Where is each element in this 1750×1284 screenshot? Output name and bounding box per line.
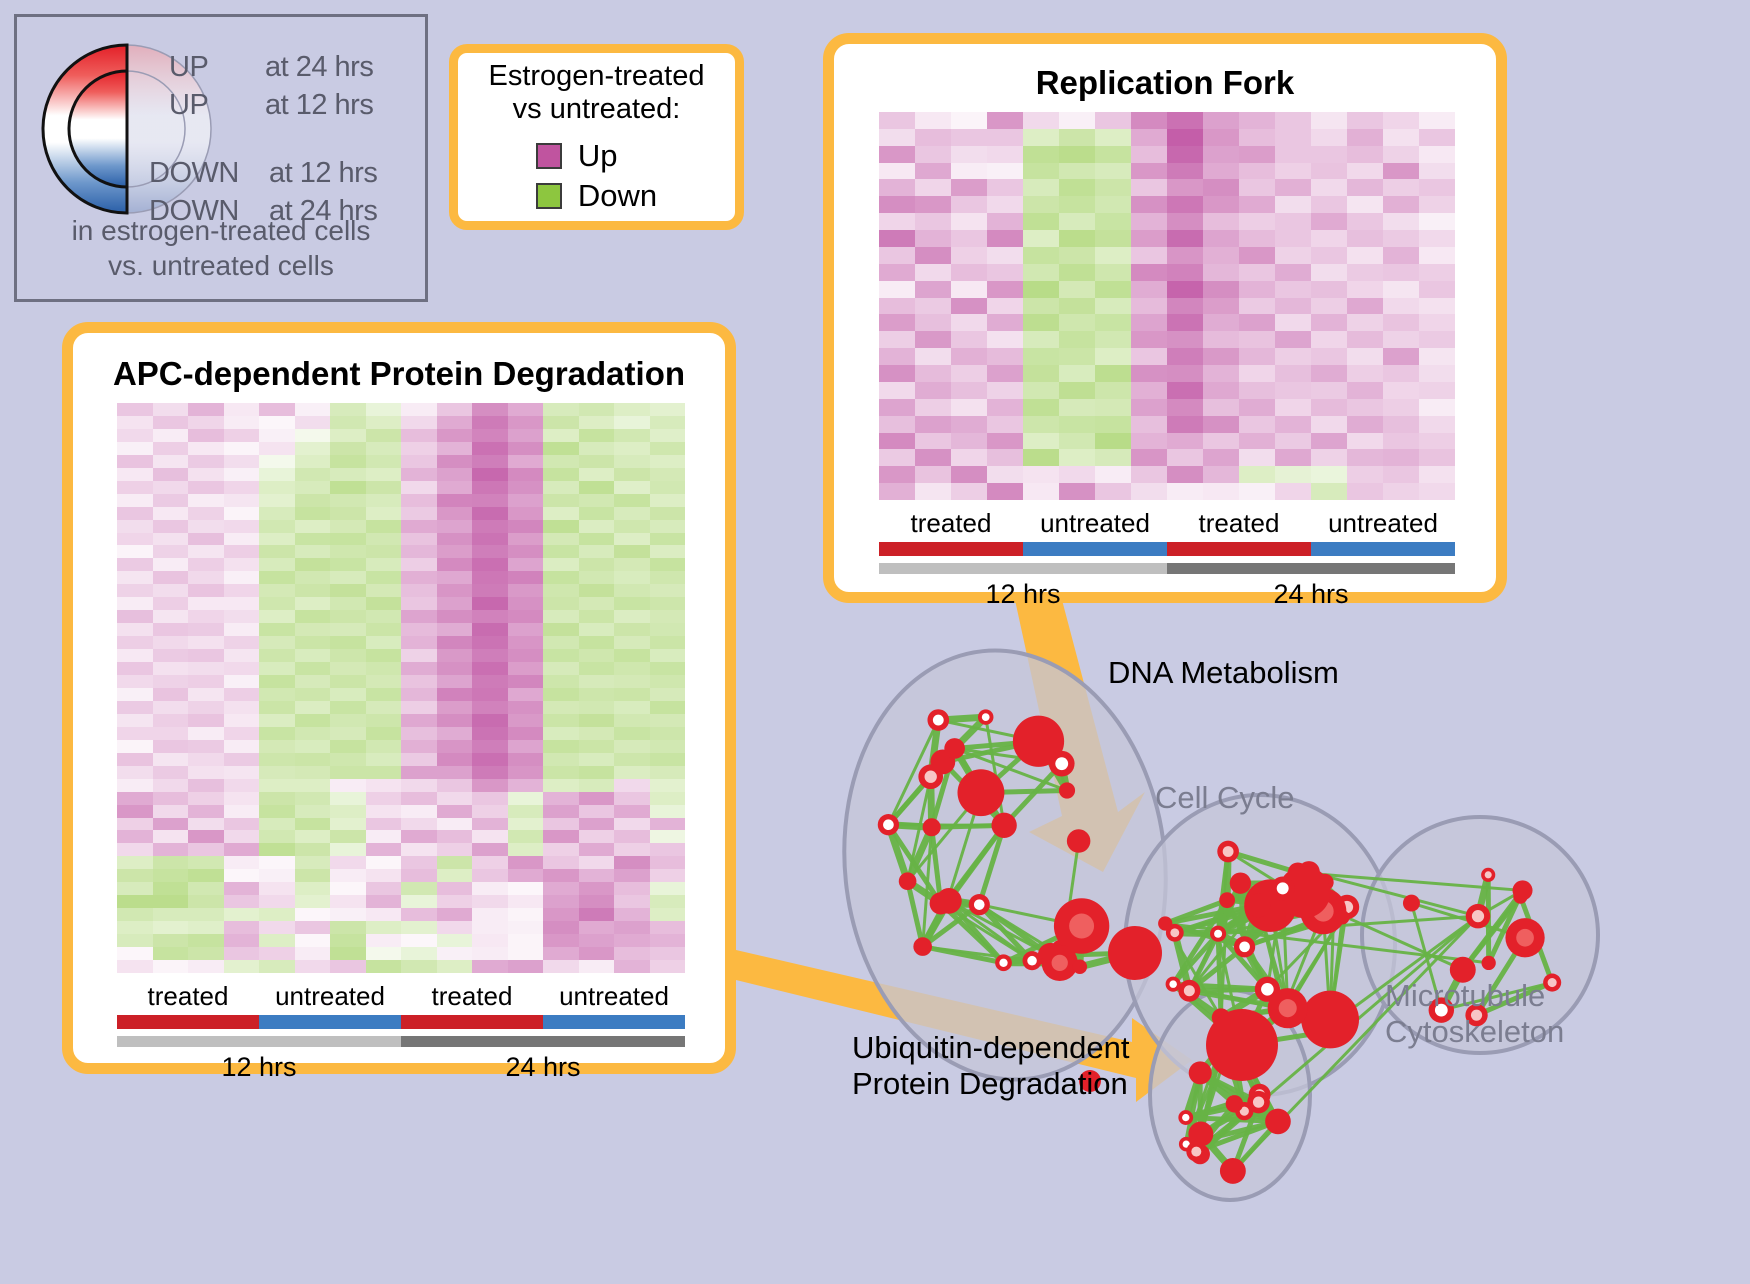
heatmap-cell xyxy=(366,597,402,610)
heatmap-cell xyxy=(401,584,437,597)
heatmap-cell xyxy=(224,934,260,947)
network-node-core xyxy=(1239,942,1250,953)
heatmap-cell xyxy=(879,382,915,399)
heatmap-cell xyxy=(543,520,579,533)
heatmap-cell xyxy=(1203,281,1239,298)
heatmap-cell xyxy=(259,416,295,429)
heatmap-cell xyxy=(295,714,331,727)
heatmap-cell xyxy=(614,921,650,934)
heatmap-cell xyxy=(295,805,331,818)
heatmap-cell xyxy=(650,545,686,558)
heatmap-cell xyxy=(153,494,189,507)
heatmap-cell xyxy=(401,494,437,507)
heatmap-cell xyxy=(117,403,153,416)
heatmap-cell xyxy=(330,779,366,792)
heatmap-cell xyxy=(579,934,615,947)
heatmap-cell xyxy=(650,403,686,416)
heatmap-cell xyxy=(117,442,153,455)
heatmap-cell xyxy=(579,960,615,973)
treatment-bar-apc-0 xyxy=(117,1015,259,1029)
heatmap-cell xyxy=(472,649,508,662)
network-node-core xyxy=(1052,955,1068,971)
panel-apc-degradation: APC-dependent Protein Degradation treate… xyxy=(62,322,736,1074)
heatmap-cell xyxy=(543,403,579,416)
heatmap-cell xyxy=(437,779,473,792)
heatmap-cell xyxy=(153,766,189,779)
heatmap-cell xyxy=(579,753,615,766)
heatmap-cell xyxy=(1059,247,1095,264)
heatmap-cell xyxy=(951,230,987,247)
heatmap-cell xyxy=(879,281,915,298)
network-node xyxy=(1219,892,1235,908)
heatmap-cell xyxy=(987,399,1023,416)
heatmap-cell xyxy=(224,610,260,623)
heatmap-cell xyxy=(1203,466,1239,483)
heatmap-cell xyxy=(1167,365,1203,382)
heatmap-cell xyxy=(401,571,437,584)
heatmap-cell xyxy=(1203,348,1239,365)
heatmap-cell xyxy=(366,468,402,481)
heatmap-cell xyxy=(401,468,437,481)
heatmap-cell xyxy=(472,662,508,675)
heatmap-cell xyxy=(614,429,650,442)
heatmap-cell xyxy=(614,843,650,856)
heatmap-cell xyxy=(153,934,189,947)
heatmap-cell xyxy=(579,805,615,818)
heatmap-cell xyxy=(330,714,366,727)
heatmap-cell xyxy=(508,429,544,442)
heatmap-cell xyxy=(1419,281,1455,298)
heatmap-cell xyxy=(153,429,189,442)
heatmap-cell xyxy=(1383,331,1419,348)
heatmap-cell xyxy=(437,571,473,584)
heatmap-cell xyxy=(915,416,951,433)
heatmap-cell xyxy=(650,520,686,533)
heatmap-cell xyxy=(508,753,544,766)
heatmap-cell xyxy=(1023,230,1059,247)
heatmap-cell xyxy=(1023,264,1059,281)
heatmap-cell xyxy=(543,494,579,507)
heatmap-cell xyxy=(437,558,473,571)
legend-item-down: Down xyxy=(536,178,657,214)
heatmap-cell xyxy=(951,129,987,146)
heatmap-cell xyxy=(1023,281,1059,298)
heatmap-cell xyxy=(330,520,366,533)
heatmap-cell xyxy=(117,558,153,571)
network-node xyxy=(1226,1095,1243,1112)
heatmap-cell xyxy=(508,701,544,714)
heatmap-cell xyxy=(508,934,544,947)
heatmap-cell xyxy=(650,468,686,481)
heatmap-cell xyxy=(650,429,686,442)
heatmap-cell xyxy=(1023,129,1059,146)
heatmap-cell xyxy=(437,649,473,662)
heatmap-cell xyxy=(1023,399,1059,416)
heatmap-cell xyxy=(1203,483,1239,500)
heatmap-cell xyxy=(579,558,615,571)
heatmap-cell xyxy=(437,468,473,481)
heatmap-cell xyxy=(330,533,366,546)
heatmap-cell xyxy=(1203,416,1239,433)
heatmap-cell xyxy=(472,429,508,442)
heatmap-cell xyxy=(472,818,508,831)
heatmap-cell xyxy=(117,494,153,507)
time-labels-rf: 12 hrs 24 hrs xyxy=(879,579,1455,610)
heatmap-cell xyxy=(295,792,331,805)
heatmap-cell xyxy=(472,895,508,908)
heatmap-cell xyxy=(1275,365,1311,382)
treatment-label-rf-3: untreated xyxy=(1311,508,1455,539)
treatment-label-rf-0: treated xyxy=(879,508,1023,539)
network-node xyxy=(1189,1061,1212,1084)
heatmap-cell xyxy=(1311,196,1347,213)
heatmap-cell xyxy=(1167,466,1203,483)
heatmap-cell xyxy=(1347,399,1383,416)
heatmap-cell xyxy=(1239,399,1275,416)
heatmap-cell xyxy=(915,196,951,213)
treatment-bars-apc xyxy=(117,1015,685,1029)
network-node-core xyxy=(1261,983,1274,996)
heatmap-cell xyxy=(650,481,686,494)
heatmap-cell xyxy=(295,481,331,494)
heatmap-cell xyxy=(1167,230,1203,247)
heatmap-cell xyxy=(117,766,153,779)
treatment-bar-rf-3 xyxy=(1311,542,1455,556)
heatmap-cell xyxy=(117,830,153,843)
heatmap-cell xyxy=(117,818,153,831)
heatmap-cell xyxy=(1383,163,1419,180)
heatmap-cell xyxy=(1059,129,1095,146)
heatmap-cell xyxy=(330,908,366,921)
heatmap-cell xyxy=(508,533,544,546)
heatmap-cell xyxy=(650,688,686,701)
heatmap-cell xyxy=(543,701,579,714)
heatmap-cell xyxy=(508,649,544,662)
network-node xyxy=(913,937,932,956)
heatmap-cell xyxy=(1347,112,1383,129)
heatmap-cell xyxy=(188,766,224,779)
heatmap-cell xyxy=(579,727,615,740)
network-node-core xyxy=(933,715,944,726)
heatmap-cell xyxy=(1311,264,1347,281)
heatmap-cell xyxy=(472,623,508,636)
heatmap-cell xyxy=(330,740,366,753)
heatmap-cell xyxy=(1383,196,1419,213)
heatmap-cell xyxy=(879,365,915,382)
network-svg xyxy=(790,615,1750,1279)
heatmap-cell xyxy=(1095,382,1131,399)
heatmap-cell xyxy=(295,830,331,843)
heatmap-cell xyxy=(1059,213,1095,230)
heatmap-cell xyxy=(614,558,650,571)
heatmap-cell xyxy=(153,792,189,805)
heatmap-cell xyxy=(915,382,951,399)
heatmap-cell xyxy=(1239,281,1275,298)
heatmap-cell xyxy=(472,908,508,921)
heatmap-cell xyxy=(1419,264,1455,281)
heatmap-cell xyxy=(543,727,579,740)
time-label-rf-12: 12 hrs xyxy=(879,579,1167,610)
network-node-core xyxy=(1027,956,1037,966)
heatmap-cell xyxy=(117,882,153,895)
heatmap-cell xyxy=(614,545,650,558)
heatmap-cell xyxy=(330,882,366,895)
heatmap-cell xyxy=(1311,146,1347,163)
heatmap-cell xyxy=(614,597,650,610)
heatmap-cell xyxy=(401,843,437,856)
heatmap-cell xyxy=(1167,213,1203,230)
heatmap-cell xyxy=(543,818,579,831)
heatmap-cell xyxy=(259,792,295,805)
heatmap-cell xyxy=(1275,163,1311,180)
heatmap-cell xyxy=(650,753,686,766)
heatmap-cell xyxy=(614,727,650,740)
heatmap-cell xyxy=(1239,483,1275,500)
heatmap-cell xyxy=(153,455,189,468)
heatmap-cell xyxy=(437,429,473,442)
heatmap-cell xyxy=(508,921,544,934)
heatmap-cell xyxy=(951,281,987,298)
heatmap-cell xyxy=(153,545,189,558)
heatmap-cell xyxy=(579,947,615,960)
heatmap-cell xyxy=(543,623,579,636)
heatmap-cell xyxy=(437,727,473,740)
heatmap-cell xyxy=(614,947,650,960)
heatmap-cell xyxy=(153,662,189,675)
heatmap-cell xyxy=(188,895,224,908)
heatmap-cell xyxy=(259,636,295,649)
heatmap-cell xyxy=(295,429,331,442)
heatmap-cell xyxy=(224,662,260,675)
heatmap-cell xyxy=(1023,433,1059,450)
heatmap-cell xyxy=(543,688,579,701)
heatmap-cell xyxy=(401,649,437,662)
heatmap-cell xyxy=(437,520,473,533)
heatmap-cell xyxy=(1347,365,1383,382)
heatmap-cell xyxy=(401,416,437,429)
heatmap-cell xyxy=(117,416,153,429)
heatmap-cell xyxy=(879,483,915,500)
heatmap-cell xyxy=(472,882,508,895)
heatmap-cell xyxy=(508,507,544,520)
heatmap-cell xyxy=(224,545,260,558)
heatmap-cell xyxy=(1419,416,1455,433)
treatment-label-apc-1: untreated xyxy=(259,981,401,1012)
heatmap-cell xyxy=(437,714,473,727)
heatmap-cell xyxy=(1275,382,1311,399)
heatmap-cell xyxy=(1347,483,1383,500)
heatmap-cell xyxy=(1203,331,1239,348)
heatmap-cell xyxy=(117,714,153,727)
heatmap-cell xyxy=(472,507,508,520)
heatmap-cell xyxy=(1311,416,1347,433)
heatmap-cell xyxy=(366,947,402,960)
heatmap-cell xyxy=(224,701,260,714)
heatmap-cell xyxy=(650,856,686,869)
heatmap-cell xyxy=(1059,416,1095,433)
heatmap-cell xyxy=(1239,466,1275,483)
heatmap-cell xyxy=(1275,281,1311,298)
heatmap-cell xyxy=(472,766,508,779)
heatmap-cell xyxy=(543,468,579,481)
heatmap-cell xyxy=(508,830,544,843)
heatmap-cell xyxy=(951,146,987,163)
heatmap-cell xyxy=(1347,264,1383,281)
heatmap-cell xyxy=(224,779,260,792)
heatmap-cell xyxy=(366,662,402,675)
heatmap-cell xyxy=(650,533,686,546)
heatmap-cell xyxy=(153,636,189,649)
heatmap-cell xyxy=(330,843,366,856)
heatmap-cell xyxy=(366,960,402,973)
network-node-core xyxy=(1485,871,1492,878)
heatmap-cell xyxy=(1023,314,1059,331)
heatmap-cell xyxy=(401,779,437,792)
heatmap-cell xyxy=(1383,466,1419,483)
heatmap-cell xyxy=(614,805,650,818)
heatmap-cell xyxy=(1383,433,1419,450)
heatmap-cell xyxy=(1059,483,1095,500)
heatmap-cell xyxy=(366,688,402,701)
heatmap-cell xyxy=(579,869,615,882)
heatmap-cell xyxy=(188,779,224,792)
heatmap-cell xyxy=(543,934,579,947)
heatmap-cell xyxy=(1023,298,1059,315)
heatmap-cell xyxy=(366,675,402,688)
heatmap-cell xyxy=(224,636,260,649)
heatmap-cell xyxy=(579,403,615,416)
heatmap-cell xyxy=(1059,112,1095,129)
heatmap-cell xyxy=(543,947,579,960)
heatmap-cell xyxy=(579,714,615,727)
heatmap-cell xyxy=(579,416,615,429)
heatmap-cell xyxy=(330,830,366,843)
heatmap-cell xyxy=(1311,348,1347,365)
heatmap-cell xyxy=(1203,382,1239,399)
heatmap-cell xyxy=(1059,196,1095,213)
heatmap-cell xyxy=(366,571,402,584)
heatmap-cell xyxy=(1347,247,1383,264)
heatmap-cell xyxy=(259,714,295,727)
heatmap-cell xyxy=(543,753,579,766)
heatmap-cell xyxy=(543,895,579,908)
network-node xyxy=(1301,991,1359,1049)
heatmap-cell xyxy=(117,921,153,934)
legend-title-line2: vs untreated: xyxy=(488,93,704,126)
heatmap-cell xyxy=(472,856,508,869)
heatmap-cell xyxy=(579,675,615,688)
treatment-labels-rf: treated untreated treated untreated xyxy=(879,508,1455,539)
heatmap-cell xyxy=(543,597,579,610)
heatmap-cell xyxy=(879,179,915,196)
heatmap-cell xyxy=(259,662,295,675)
heatmap-cell xyxy=(472,921,508,934)
heatmap-cell xyxy=(472,636,508,649)
heatmap-cell xyxy=(259,921,295,934)
heatmap-cell xyxy=(579,779,615,792)
heatmap-cell xyxy=(188,610,224,623)
heatmap-cell xyxy=(915,179,951,196)
heatmap-cell xyxy=(330,545,366,558)
heatmap-cell xyxy=(1347,281,1383,298)
heatmap-cell xyxy=(472,675,508,688)
heatmap-cell xyxy=(543,416,579,429)
axis-apc: treated untreated treated untreated 12 h… xyxy=(117,981,685,1083)
heatmap-cell xyxy=(117,533,153,546)
heatmap-cell xyxy=(330,442,366,455)
heatmap-cell xyxy=(366,830,402,843)
heatmap-cell xyxy=(614,636,650,649)
heatmap-cell xyxy=(330,610,366,623)
network-node xyxy=(1220,1158,1246,1184)
heatmap-cell xyxy=(330,403,366,416)
heatmap-cell xyxy=(650,442,686,455)
treatment-label-rf-2: treated xyxy=(1167,508,1311,539)
heatmap-cell xyxy=(1383,449,1419,466)
heatmap-cell xyxy=(614,520,650,533)
heatmap-cell xyxy=(1311,112,1347,129)
heatmap-cell xyxy=(650,779,686,792)
heatmap-cell xyxy=(117,545,153,558)
heatmap-cell xyxy=(1167,483,1203,500)
heatmap-cell xyxy=(259,779,295,792)
heatmap-cell xyxy=(401,960,437,973)
heatmap-cell xyxy=(1419,449,1455,466)
heatmap-cell xyxy=(879,314,915,331)
heatmap-cell xyxy=(1203,247,1239,264)
heatmap-cell xyxy=(1275,129,1311,146)
heatmap-cell xyxy=(543,662,579,675)
heatmap-cell xyxy=(951,416,987,433)
heatmap-cell xyxy=(330,597,366,610)
heatmap-cell xyxy=(543,675,579,688)
heatmap-cell xyxy=(401,921,437,934)
heatmap-cell xyxy=(117,753,153,766)
heatmap-cell xyxy=(1419,213,1455,230)
heatmap-cell xyxy=(879,449,915,466)
heatmap-cell xyxy=(650,494,686,507)
heatmap-cell xyxy=(153,830,189,843)
heatmap-cell xyxy=(401,455,437,468)
heatmap-cell xyxy=(224,468,260,481)
heatmap-cell xyxy=(295,856,331,869)
heatmap-cell xyxy=(650,714,686,727)
heatmap-cell xyxy=(1167,247,1203,264)
network-node-core xyxy=(1184,985,1195,996)
heatmap-cell xyxy=(987,196,1023,213)
heatmap-cell xyxy=(1095,146,1131,163)
heatmap-cell xyxy=(614,934,650,947)
heatmap-cell xyxy=(987,331,1023,348)
heatmap-cell xyxy=(650,830,686,843)
heatmap-cell xyxy=(472,545,508,558)
heatmap-cell xyxy=(543,960,579,973)
heatmap-cell xyxy=(915,331,951,348)
heatmap-cell xyxy=(1095,314,1131,331)
heatmap-cell xyxy=(543,882,579,895)
heatmap-cell xyxy=(188,468,224,481)
heatmap-cell xyxy=(437,960,473,973)
heatmap-cell xyxy=(1059,230,1095,247)
heatmap-cell xyxy=(543,792,579,805)
key-time-up-12: at 12 hrs xyxy=(265,89,373,122)
heatmap-cell xyxy=(437,869,473,882)
heatmap-cell xyxy=(987,213,1023,230)
time-label-apc-24: 24 hrs xyxy=(401,1052,685,1083)
heatmap-cell xyxy=(117,455,153,468)
heatmap-cell xyxy=(437,805,473,818)
heatmap-cell xyxy=(1311,331,1347,348)
